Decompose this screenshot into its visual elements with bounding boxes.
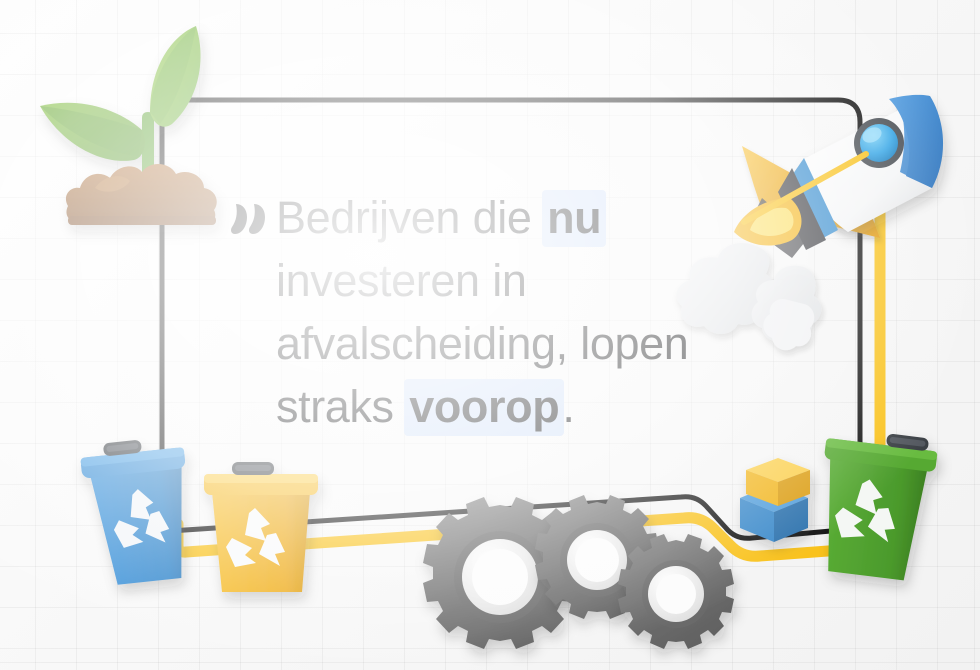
blue-bin-illustration xyxy=(79,435,197,587)
quote-period: . xyxy=(562,381,574,432)
rocket-window-icon xyxy=(854,118,904,168)
quote-text: Bedrijven die nu investeren in afvalsche… xyxy=(228,186,788,438)
highlight-nu: nu xyxy=(542,190,606,247)
open-quote-icon xyxy=(230,202,270,236)
highlight-voorop: voorop xyxy=(404,379,564,436)
gears-illustration xyxy=(423,495,734,649)
gear-large xyxy=(423,497,577,649)
quote-line-2: investeren in xyxy=(276,255,526,306)
recycle-icon xyxy=(226,508,285,567)
quote-line-4-plain: straks xyxy=(276,381,406,432)
quote-block: Bedrijven die nu investeren in afvalsche… xyxy=(228,186,788,438)
recycle-icon xyxy=(832,476,900,544)
yellow-bin-illustration xyxy=(204,462,318,592)
slide-canvas: Bedrijven die nu investeren in afvalsche… xyxy=(0,0,980,670)
boxes-illustration xyxy=(740,458,810,542)
gear-small xyxy=(618,534,734,649)
quote-line-1-plain: Bedrijven die xyxy=(276,192,544,243)
quote-line-3: afvalscheiding, lopen xyxy=(276,318,688,369)
seedling-illustration xyxy=(40,26,217,225)
gear-medium xyxy=(535,495,659,619)
recycle-icon xyxy=(110,486,171,548)
green-bin-illustration xyxy=(810,426,939,583)
